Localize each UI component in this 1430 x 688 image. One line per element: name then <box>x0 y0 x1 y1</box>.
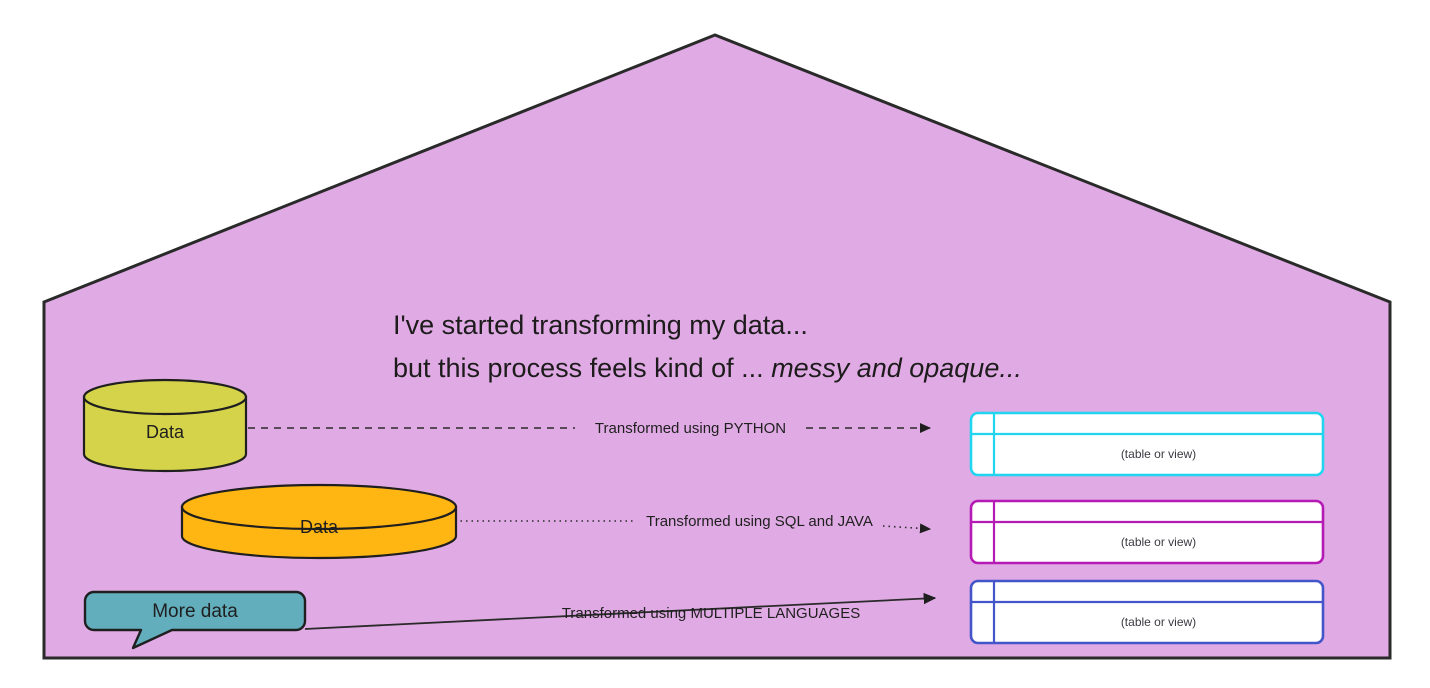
target-blue-table[interactable] <box>971 581 1323 643</box>
target-blue-label: (table or view) <box>994 615 1323 629</box>
headline-line-1: I've started transforming my data... <box>393 305 808 345</box>
source-orange-label: Data <box>239 517 399 538</box>
edge-python-label: Transformed using PYTHON <box>575 420 806 437</box>
headline-line-2-italic: messy and opaque... <box>771 353 1022 383</box>
edge-sql-java-label: Transformed using SQL and JAVA <box>636 513 883 530</box>
edge-multiple-label: Transformed using MULTIPLE LANGUAGES <box>551 605 871 622</box>
source-green-label: Data <box>85 422 245 443</box>
house-outline <box>44 35 1390 658</box>
headline-line-2-plain: but this process feels kind of ... <box>393 353 771 383</box>
target-magenta-table[interactable] <box>971 501 1323 563</box>
target-cyan-label: (table or view) <box>994 447 1323 461</box>
headline-line-2: but this process feels kind of ... messy… <box>393 348 1022 388</box>
target-cyan-table[interactable] <box>971 413 1323 475</box>
target-magenta-label: (table or view) <box>994 535 1323 549</box>
diagram-canvas: I've started transforming my data... but… <box>0 0 1430 688</box>
source-teal-label: More data <box>85 601 305 623</box>
